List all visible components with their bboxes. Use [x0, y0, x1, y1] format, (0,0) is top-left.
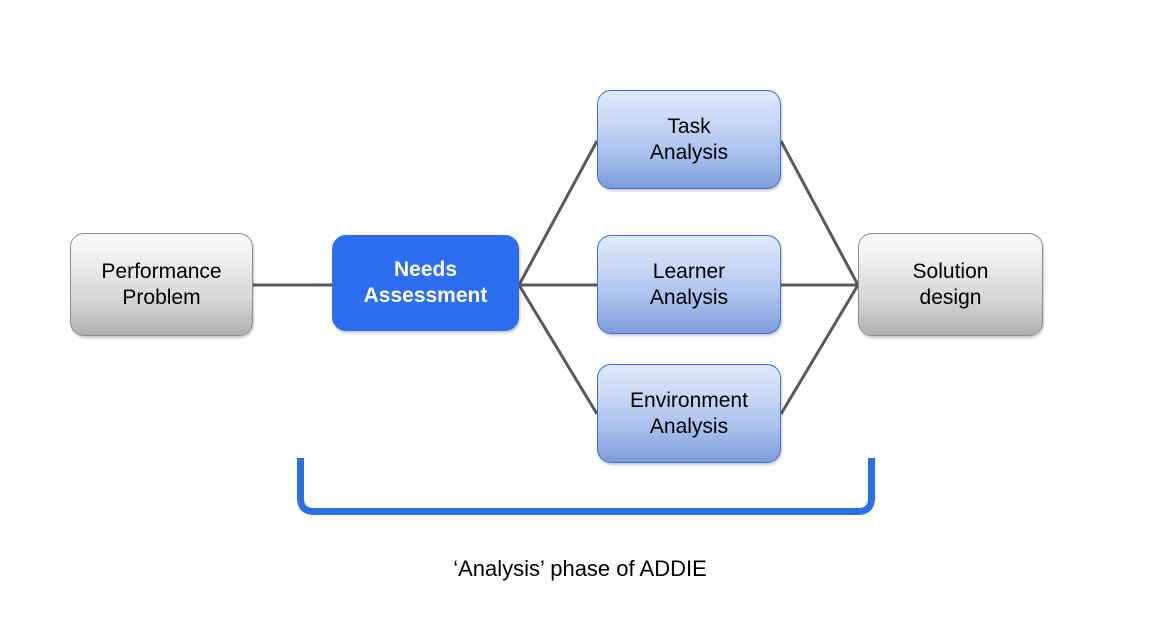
node-task-analysis-label: Task Analysis	[650, 114, 728, 165]
connector-environment-to-solution	[781, 285, 858, 414]
node-task-analysis[interactable]: Task Analysis	[597, 90, 781, 189]
node-performance-problem-label: Performance Problem	[101, 259, 221, 310]
node-solution-design-label: Solution design	[913, 259, 989, 310]
node-needs-assessment[interactable]: Needs Assessment	[332, 235, 519, 331]
node-solution-design[interactable]: Solution design	[858, 233, 1043, 336]
connector-needs-to-task	[519, 141, 597, 285]
node-learner-analysis-label: Learner Analysis	[650, 259, 728, 310]
analysis-phase-bracket	[285, 448, 885, 528]
node-environment-analysis-label: Environment Analysis	[630, 388, 748, 439]
diagram-canvas: Performance Problem Needs Assessment Tas…	[0, 0, 1160, 644]
connector-task-to-solution	[781, 141, 858, 285]
connector-needs-to-environment	[519, 285, 597, 414]
node-learner-analysis[interactable]: Learner Analysis	[597, 235, 781, 334]
diagram-caption: ‘Analysis’ phase of ADDIE	[0, 556, 1160, 582]
node-performance-problem[interactable]: Performance Problem	[70, 233, 253, 336]
node-needs-assessment-label: Needs Assessment	[364, 257, 488, 308]
